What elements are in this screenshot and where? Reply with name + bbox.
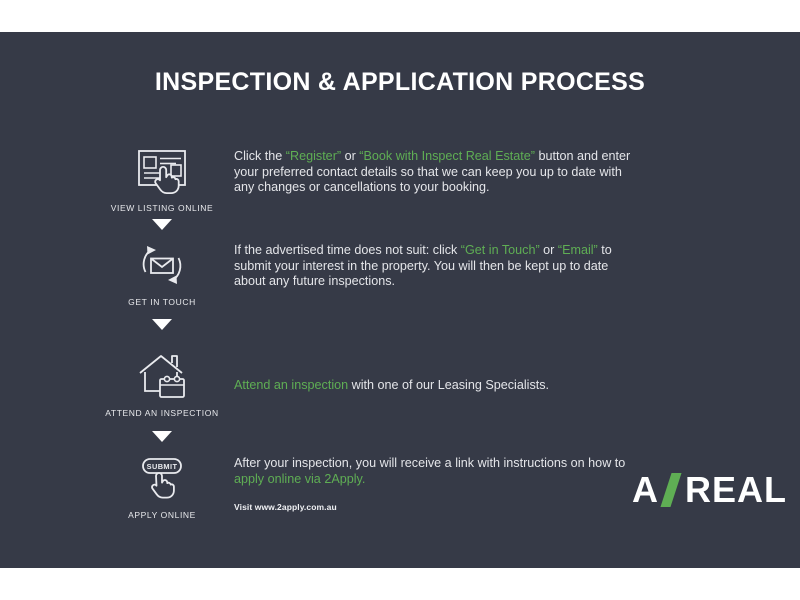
- step-2-icon-column: GET IN TOUCH: [88, 239, 236, 307]
- step-3-icon-column: ATTEND AN INSPECTION: [88, 350, 236, 418]
- step-4-label: APPLY ONLINE: [88, 510, 236, 520]
- house-calendar-icon: [88, 350, 236, 402]
- page-title: INSPECTION & APPLICATION PROCESS: [0, 68, 800, 97]
- logo-slash-icon: [660, 473, 681, 507]
- step-3-link-attend-inspection[interactable]: Attend an inspection: [234, 378, 348, 392]
- logo-initial: A: [632, 472, 659, 508]
- step-4-link-apply-2apply[interactable]: apply online via 2Apply.: [234, 472, 365, 486]
- brand-logo: A REAL: [632, 472, 787, 508]
- step-2-text-seg2: or: [540, 243, 558, 257]
- step-3-label: ATTEND AN INSPECTION: [88, 408, 236, 418]
- step-2-label: GET IN TOUCH: [88, 297, 236, 307]
- connector-arrow-3: [152, 431, 172, 442]
- logo-name: REAL: [685, 472, 787, 508]
- connector-arrow-2: [152, 319, 172, 330]
- step-1-icon-column: VIEW LISTING ONLINE: [88, 145, 236, 213]
- svg-text:SUBMIT: SUBMIT: [147, 462, 178, 471]
- step-1-label: VIEW LISTING ONLINE: [88, 203, 236, 213]
- step-2-text-seg1: If the advertised time does not suit: cl…: [234, 243, 461, 257]
- step-4-paragraph: After your inspection, you will receive …: [234, 456, 634, 487]
- step-4-visit-note: Visit www.2apply.com.au: [234, 500, 634, 516]
- step-1-text-seg1: Click the: [234, 149, 286, 163]
- step-1-text-seg2: or: [341, 149, 359, 163]
- listing-window-pointer-icon: [88, 145, 236, 197]
- step-2-link-get-in-touch[interactable]: “Get in Touch”: [461, 243, 540, 257]
- step-1-description: Click the “Register” or “Book with Inspe…: [234, 149, 634, 196]
- step-4-description: After your inspection, you will receive …: [234, 456, 634, 516]
- step-2-description: If the advertised time does not suit: cl…: [234, 243, 634, 290]
- slide-canvas: INSPECTION & APPLICATION PROCESS VIEW LI…: [0, 32, 800, 568]
- step-1-link-book-inspect[interactable]: “Book with Inspect Real Estate”: [359, 149, 535, 163]
- step-4-text-seg1: After your inspection, you will receive …: [234, 456, 625, 470]
- step-3-text-seg2: with one of our Leasing Specialists.: [348, 378, 549, 392]
- submit-button-pointer-icon: SUBMIT: [88, 452, 236, 504]
- envelope-refresh-icon: [88, 239, 236, 291]
- step-1-link-register[interactable]: “Register”: [286, 149, 341, 163]
- step-4-icon-column: SUBMIT APPLY ONLINE: [88, 452, 236, 520]
- connector-arrow-1: [152, 219, 172, 230]
- step-2-link-email[interactable]: “Email”: [558, 243, 598, 257]
- step-3-description: Attend an inspection with one of our Lea…: [234, 378, 634, 394]
